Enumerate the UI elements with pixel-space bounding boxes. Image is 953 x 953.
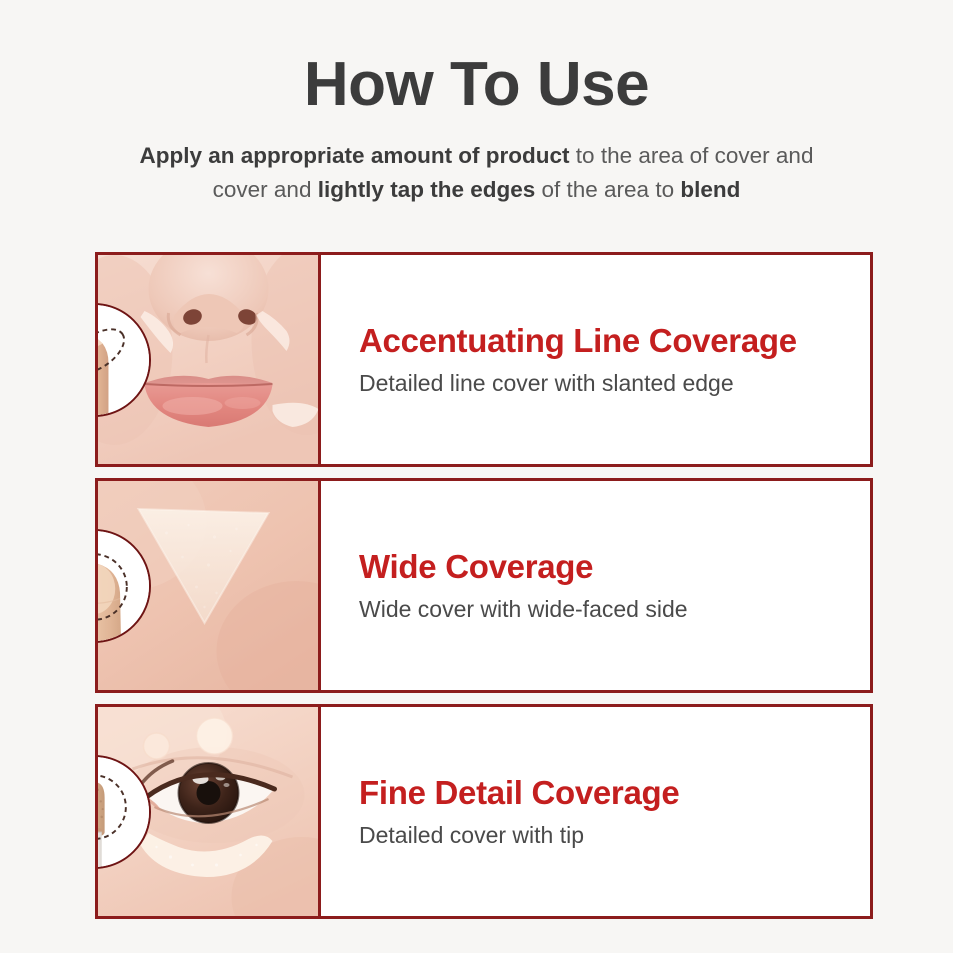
subtitle-segment-3: lightly tap the edges xyxy=(318,177,536,202)
coverage-row-wide[interactable]: Wide Coverage Wide cover with wide-faced… xyxy=(95,478,873,693)
page-title: How To Use xyxy=(0,52,953,117)
coverage-row-accentuating-line[interactable]: Accentuating Line Coverage Detailed line… xyxy=(95,252,873,467)
under-eye-concealer-photo xyxy=(98,707,321,916)
subtitle-segment-2: to the area of cover and xyxy=(570,143,814,168)
how-to-use-page: How To Use Apply an appropriate amount o… xyxy=(0,0,953,953)
coverage-title: Fine Detail Coverage xyxy=(359,774,870,812)
subtitle-segment-1: Apply an appropriate amount of product xyxy=(140,143,570,168)
coverage-title: Accentuating Line Coverage xyxy=(359,322,870,360)
subtitle-segment-5: blend xyxy=(680,177,740,202)
cheek-triangle-concealer-photo xyxy=(98,481,321,690)
coverage-description: Wide cover with wide-faced side xyxy=(359,595,870,624)
page-header: How To Use Apply an appropriate amount o… xyxy=(0,0,953,207)
subtitle-segment-4: of the area to xyxy=(535,177,680,202)
coverage-info-2: Wide Coverage Wide cover with wide-faced… xyxy=(321,481,870,690)
coverage-rows: Accentuating Line Coverage Detailed line… xyxy=(95,252,873,930)
coverage-row-fine-detail[interactable]: Fine Detail Coverage Detailed cover with… xyxy=(95,704,873,919)
coverage-description: Detailed line cover with slanted edge xyxy=(359,369,870,398)
coverage-info-3: Fine Detail Coverage Detailed cover with… xyxy=(321,707,870,916)
subtitle-segment-2b: cover and xyxy=(213,177,318,202)
coverage-title: Wide Coverage xyxy=(359,548,870,586)
coverage-info-1: Accentuating Line Coverage Detailed line… xyxy=(321,255,870,464)
nose-and-mouth-concealer-photo xyxy=(98,255,321,464)
page-subtitle: Apply an appropriate amount of product t… xyxy=(0,139,953,207)
coverage-description: Detailed cover with tip xyxy=(359,821,870,850)
